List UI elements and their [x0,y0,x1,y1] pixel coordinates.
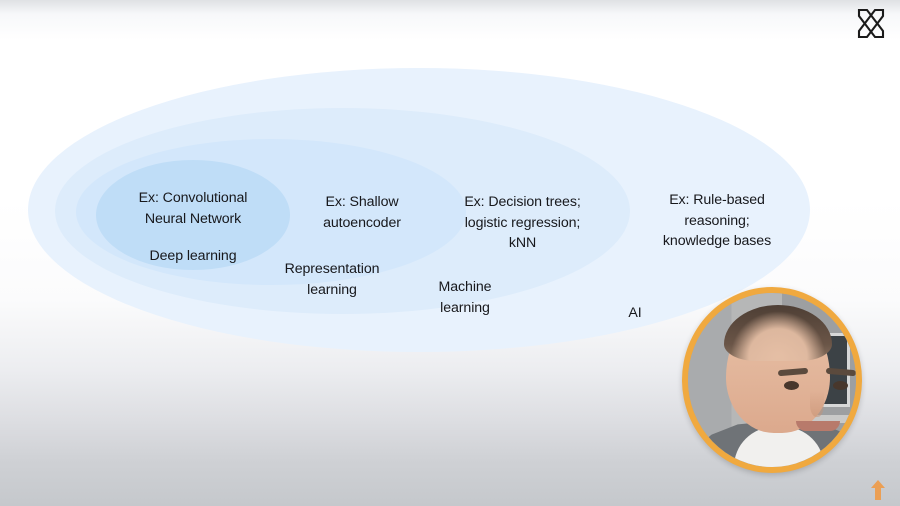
slide-canvas: Ex: Convolutional Neural Network Deep le… [0,0,900,506]
presenter-webcam[interactable] [682,287,862,473]
presenter-mouth [796,421,840,431]
presenter-eye-right [833,381,848,390]
presenter-eye-left [784,381,799,390]
example-label-ai: Ex: Rule-based reasoning; knowledge base… [625,190,809,252]
up-arrow-icon [870,480,886,500]
tier-label-ai: AI [590,303,680,324]
tier-label-machine-learning: Machine learning [405,277,525,318]
example-label-machine-learning: Ex: Decision trees; logistic regression;… [425,192,620,254]
orange-arrow-mark[interactable] [870,480,886,500]
brand-monogram-logo[interactable] [854,5,888,39]
x-monogram-icon [854,5,888,39]
presenter-nose [810,391,824,417]
presenter-eyebrow-left [778,368,808,377]
example-label-deep-learning: Ex: Convolutional Neural Network [103,188,283,229]
tier-label-representation-learning: Representation learning [252,259,412,300]
